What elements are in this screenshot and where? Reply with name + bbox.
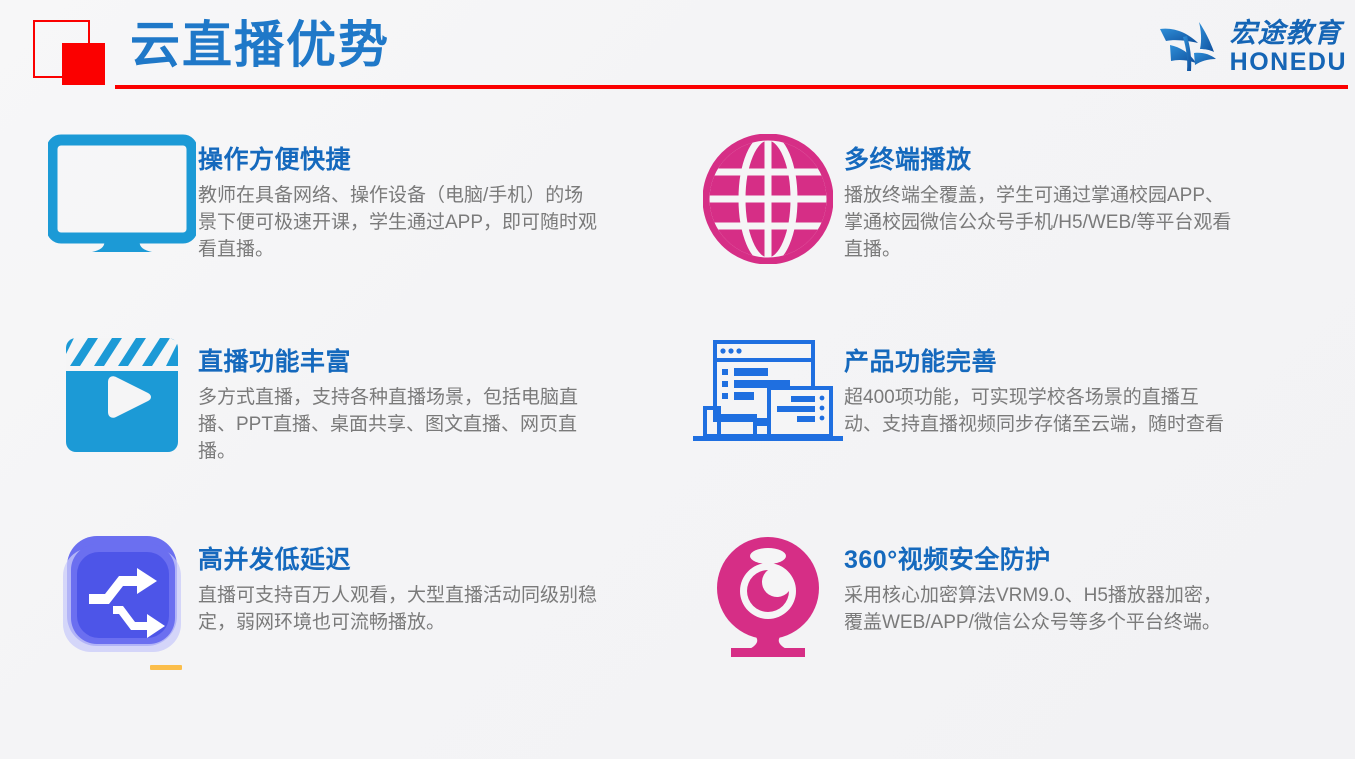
feature-title: 直播功能丰富 bbox=[198, 342, 646, 378]
clapperboard-play-icon bbox=[46, 334, 198, 454]
feature-item-security: 360°视频安全防护 采用核心加密算法VRM9.0、H5播放器加密，覆盖WEB/… bbox=[692, 532, 1312, 660]
slide-root: 云直播优势 宏途教 bbox=[0, 0, 1355, 759]
feature-title: 360°视频安全防护 bbox=[844, 540, 1312, 576]
feature-item-concurrency: 高并发低延迟 直播可支持百万人观看，大型直播活动同级别稳定，弱网环境也可流畅播放… bbox=[46, 532, 646, 662]
brand-logo: 宏途教育 HONEDU bbox=[1158, 14, 1347, 80]
feature-title: 高并发低延迟 bbox=[198, 540, 646, 576]
feature-description: 播放终端全覆盖，学生可通过掌通校园APP、掌通校园微信公众号手机/H5/WEB/… bbox=[844, 183, 1234, 264]
page-title: 云直播优势 bbox=[130, 15, 390, 75]
feature-text-block: 多终端播放 播放终端全覆盖，学生可通过掌通校园APP、掌通校园微信公众号手机/H… bbox=[844, 132, 1312, 264]
feature-title: 多终端播放 bbox=[844, 140, 1312, 176]
slide-header: 云直播优势 宏途教 bbox=[0, 0, 1355, 100]
browser-window-icon bbox=[692, 334, 844, 448]
feature-text-block: 产品功能完善 超400项功能，可实现学校各场景的直播互动、支持直播视频同步存储至… bbox=[844, 334, 1312, 439]
feature-description: 多方式直播，支持各种直播场景，包括电脑直播、PPT直播、桌面共享、图文直播、网页… bbox=[198, 385, 602, 466]
feature-text-block: 360°视频安全防护 采用核心加密算法VRM9.0、H5播放器加密，覆盖WEB/… bbox=[844, 532, 1312, 637]
feature-description: 采用核心加密算法VRM9.0、H5播放器加密，覆盖WEB/APP/微信公众号等多… bbox=[844, 583, 1234, 637]
title-divider-line bbox=[115, 85, 1348, 89]
features-grid: 操作方便快捷 教师在具备网络、操作设备（电脑/手机）的场景下便可极速开课，学生通… bbox=[0, 112, 1355, 752]
logo-english-name: HONEDU bbox=[1230, 50, 1347, 75]
feature-title: 操作方便快捷 bbox=[198, 140, 646, 176]
feature-item-operation: 操作方便快捷 教师在具备网络、操作设备（电脑/手机）的场景下便可极速开课，学生通… bbox=[46, 132, 646, 264]
globe-icon bbox=[692, 132, 844, 264]
feature-text-block: 直播功能丰富 多方式直播，支持各种直播场景，包括电脑直播、PPT直播、桌面共享、… bbox=[198, 334, 646, 466]
honedu-logo-mark-icon bbox=[1158, 19, 1224, 75]
monitor-icon bbox=[46, 132, 198, 254]
feature-description: 直播可支持百万人观看，大型直播活动同级别稳定，弱网环境也可流畅播放。 bbox=[198, 583, 602, 637]
feature-item-live-features: 直播功能丰富 多方式直播，支持各种直播场景，包括电脑直播、PPT直播、桌面共享、… bbox=[46, 334, 646, 466]
feature-item-multiterminal: 多终端播放 播放终端全覆盖，学生可通过掌通校园APP、掌通校园微信公众号手机/H… bbox=[692, 132, 1312, 264]
shuffle-arrows-icon bbox=[46, 532, 198, 662]
accent-dash bbox=[150, 665, 182, 670]
webcam-icon bbox=[692, 532, 844, 660]
logo-chinese-name: 宏途教育 bbox=[1230, 20, 1347, 47]
feature-text-block: 操作方便快捷 教师在具备网络、操作设备（电脑/手机）的场景下便可极速开课，学生通… bbox=[198, 132, 646, 264]
feature-description: 超400项功能，可实现学校各场景的直播互动、支持直播视频同步存储至云端，随时查看 bbox=[844, 385, 1234, 439]
logo-text-block: 宏途教育 HONEDU bbox=[1230, 20, 1347, 75]
feature-description: 教师在具备网络、操作设备（电脑/手机）的场景下便可极速开课，学生通过APP，即可… bbox=[198, 183, 602, 264]
decoration-square-solid bbox=[62, 43, 105, 85]
feature-item-product-features: 产品功能完善 超400项功能，可实现学校各场景的直播互动、支持直播视频同步存储至… bbox=[692, 334, 1312, 448]
feature-text-block: 高并发低延迟 直播可支持百万人观看，大型直播活动同级别稳定，弱网环境也可流畅播放… bbox=[198, 532, 646, 637]
feature-title: 产品功能完善 bbox=[844, 342, 1312, 378]
